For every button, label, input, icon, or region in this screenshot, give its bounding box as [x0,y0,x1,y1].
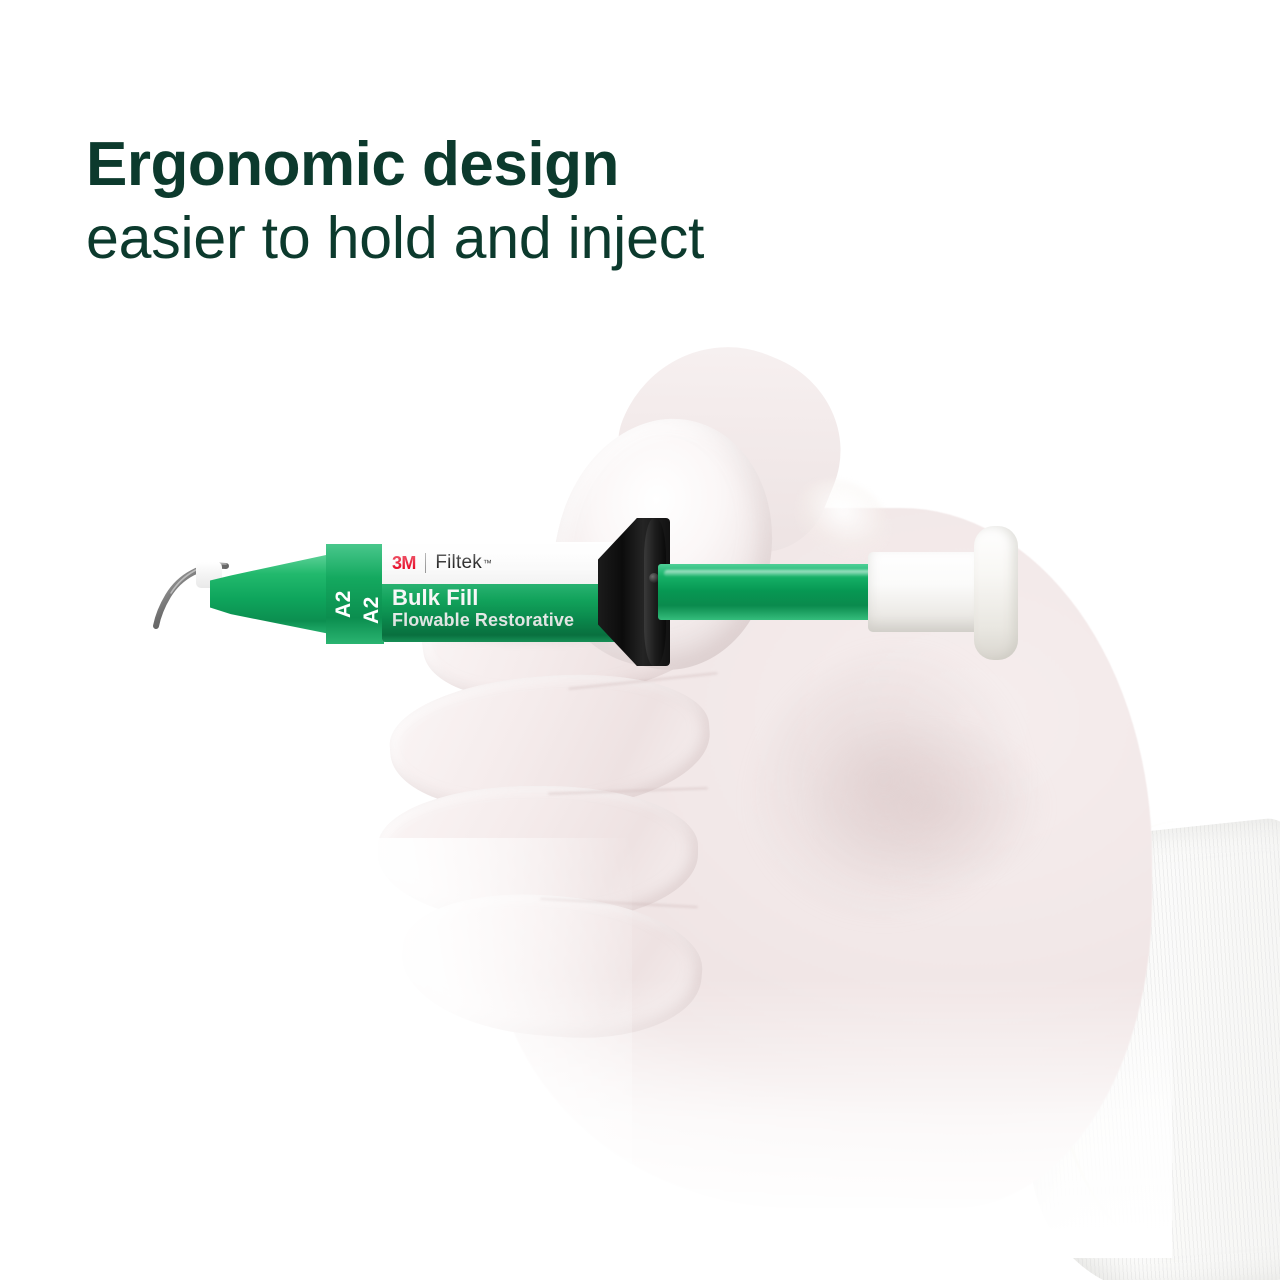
syringe-plunger-sleeve [868,552,984,632]
product-photograph: A2 A2 3M Filtek ™ Bulk Fill Flowable Res… [0,330,1280,1280]
syringe-plunger-cap [974,526,1018,660]
heading-line-primary: Ergonomic design [86,128,986,202]
dental-syringe: A2 A2 3M Filtek ™ Bulk Fill Flowable Res… [0,330,1280,1280]
heading-line-secondary: easier to hold and inject [86,202,986,274]
brand-logo-3m: 3M [392,553,416,574]
shade-label-a: A2 [332,590,356,618]
shade-label-b: A2 [360,596,384,624]
product-family-name: Filtek [435,552,482,574]
brand-divider [425,553,427,573]
shade-marking-band: A2 A2 [326,544,384,644]
promo-image-canvas: Ergonomic design easier to hold and inje… [0,0,1280,1280]
heading-block: Ergonomic design easier to hold and inje… [86,128,986,274]
trademark-symbol: ™ [483,558,492,568]
plunger-rod-highlight [664,570,876,577]
